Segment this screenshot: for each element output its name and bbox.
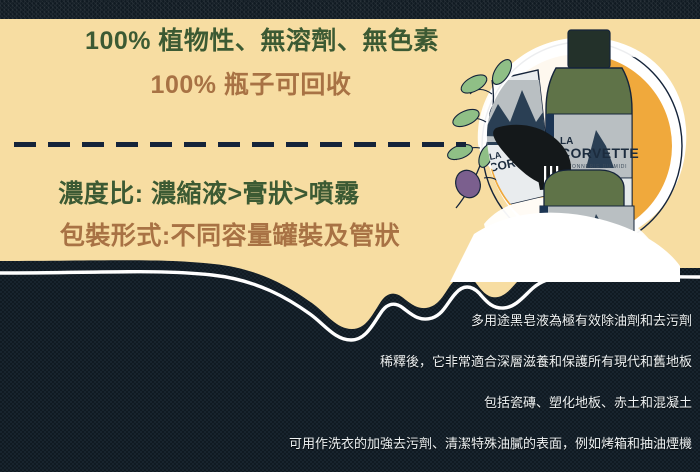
description-line-3: 包括瓷磚、塑化地板、赤土和混凝土 (0, 382, 692, 423)
description-block: 多用途黑皂液為極有效除油劑和去污劑 稀釋後，它非常適合深層滋養和保護所有現代和舊… (0, 300, 692, 464)
subhead-line-2: 包裝形式:不同容量罐裝及管狀 (0, 212, 470, 254)
headline-block: 100% 植物性、無溶劑、無色素 100% 瓶子可回收 (0, 24, 500, 102)
description-line-2: 稀釋後，它非常適合深層滋養和保護所有現代和舊地板 (0, 341, 692, 382)
dashed-divider (14, 142, 466, 147)
subhead-line-1: 濃度比: 濃縮液>膏狀>噴霧 (0, 176, 470, 212)
svg-text:CORVETTE: CORVETTE (560, 145, 639, 161)
headline-line-2: 100% 瓶子可回收 (0, 58, 500, 102)
subhead-block: 濃度比: 濃縮液>膏狀>噴霧 包裝形式:不同容量罐裝及管狀 (0, 176, 470, 254)
description-line-1: 多用途黑皂液為極有效除油劑和去污劑 (0, 300, 692, 341)
description-line-4: 可用作洗衣的加強去污劑、清潔特殊油膩的表面，例如烤箱和抽油煙機 (0, 423, 692, 464)
headline-line-1: 100% 植物性、無溶劑、無色素 (0, 24, 500, 58)
poster-root: LA CORVETTE LA CORVETTE SAVONNERIE DU MI… (0, 0, 700, 472)
top-dark-strip (0, 0, 700, 19)
